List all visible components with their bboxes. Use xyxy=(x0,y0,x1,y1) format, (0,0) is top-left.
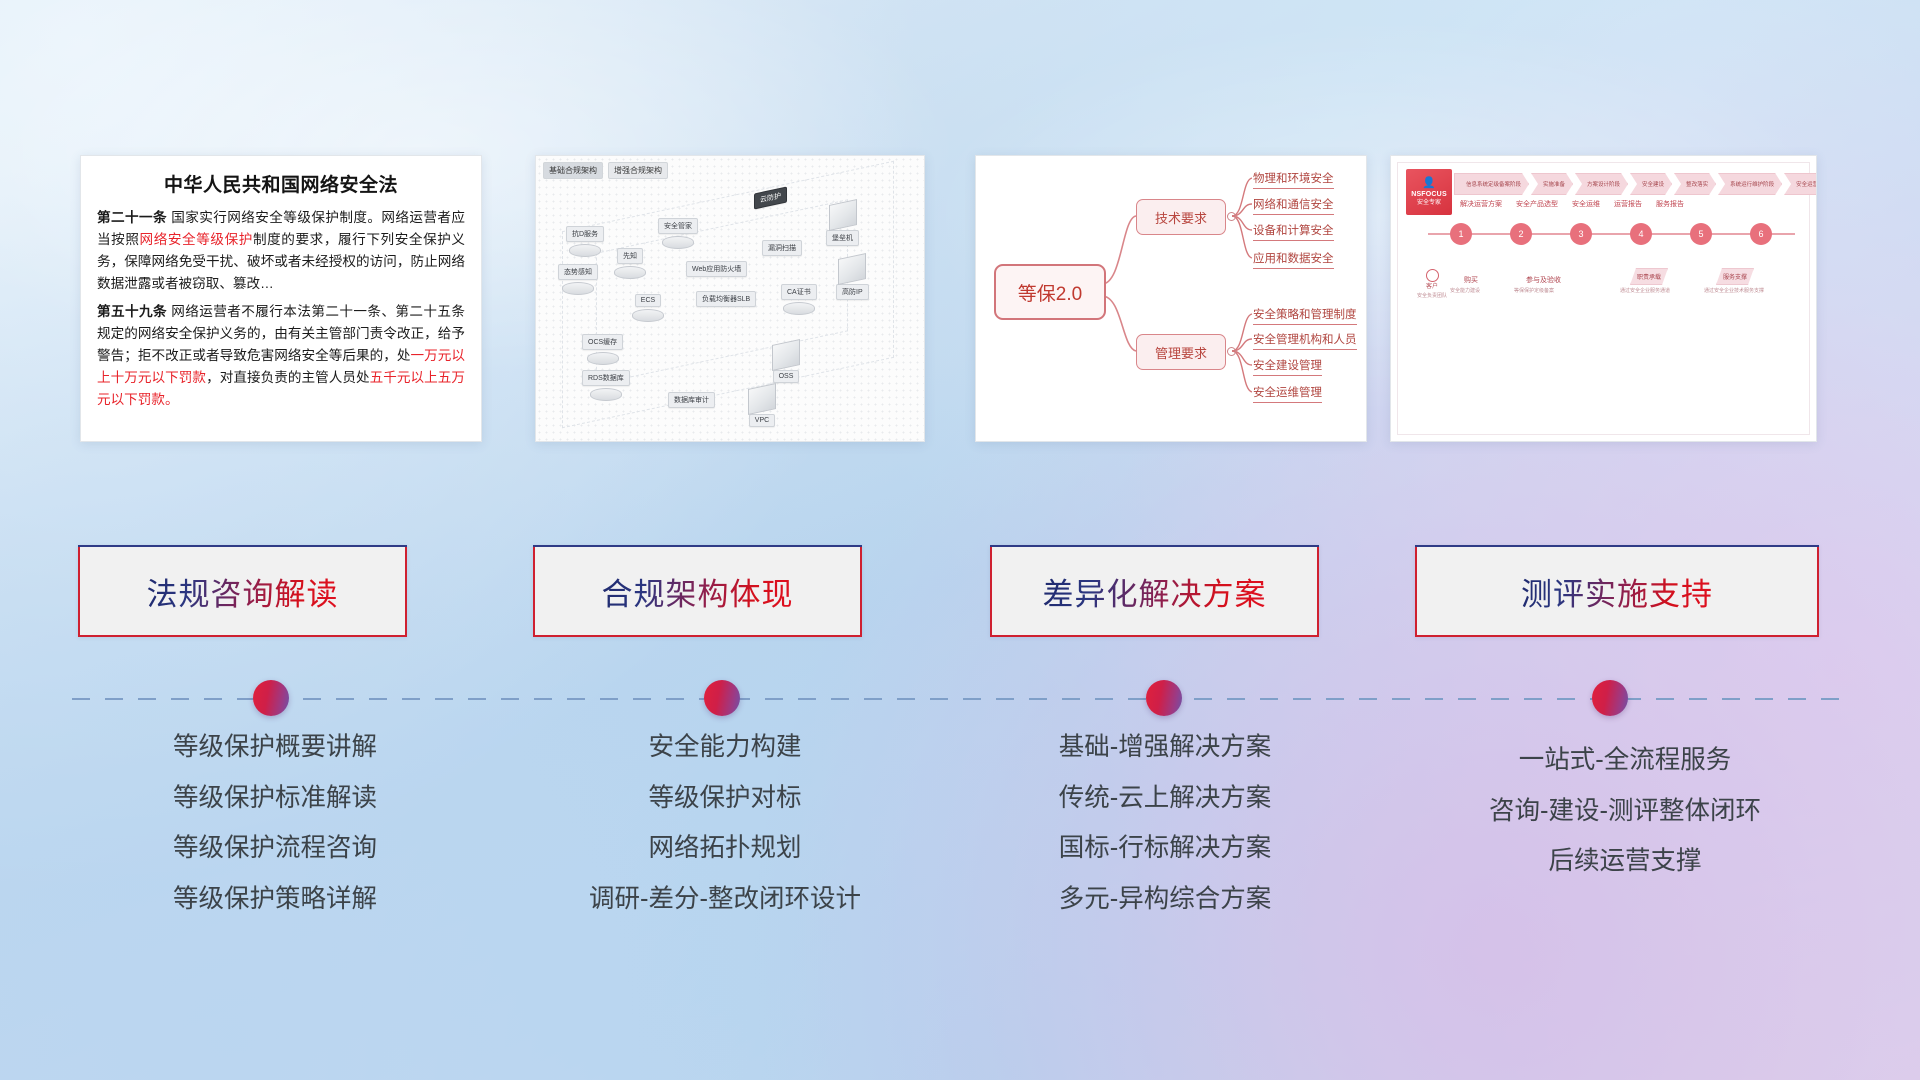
brand-name: NSFOCUS xyxy=(1411,191,1447,200)
slide-stage: 中华人民共和国网络安全法 第二十一条 国家实行网络安全等级保护制度。网络运营者应… xyxy=(0,0,1920,1080)
list-item: 等级保护标准解读 xyxy=(60,786,490,812)
role-purchase: 购买 xyxy=(1464,275,1478,285)
chevron-5: 系统运行维护阶段 xyxy=(1718,173,1782,195)
chevron-2: 方案设计阶段 xyxy=(1575,173,1628,195)
expert-icon: 👤 xyxy=(1422,177,1436,191)
brand-subtitle: 安全专家 xyxy=(1417,200,1441,208)
timeline-step-4: 4 xyxy=(1630,223,1652,245)
node-ocs-cache-label: OCS缓存 xyxy=(582,334,623,350)
card-service-timeline[interactable]: 👤 NSFOCUS 安全专家 信息系统定级备案阶段 实施准备 方案设计阶段 安全… xyxy=(1390,155,1817,442)
node-ocs-cache: OCS缓存 xyxy=(582,334,623,365)
list-item: 咨询-建设-测评整体闭环 xyxy=(1390,799,1860,825)
mindmap-leaf-policy-system: 安全策略和管理制度 xyxy=(1253,306,1357,325)
service-0: 解决运营方案 xyxy=(1460,199,1502,209)
node-oss-label: OSS xyxy=(773,370,800,383)
customer-label: 客户 xyxy=(1410,284,1454,292)
mindmap-leaf-build-mgmt: 安全建设管理 xyxy=(1253,357,1322,376)
list-item: 等级保护策略详解 xyxy=(60,887,490,913)
chevron-3: 安全建设 xyxy=(1630,173,1672,195)
node-antiddos-label: 抗D服务 xyxy=(566,226,604,242)
mindmap-bullet-management-icon xyxy=(1227,347,1236,356)
law-article-21: 第二十一条 国家实行网络安全等级保护制度。网络运营者应当按照网络安全等级保护制度… xyxy=(97,207,465,295)
node-db-audit-label: 数据库审计 xyxy=(668,392,715,408)
chevron-1: 实施准备 xyxy=(1531,173,1573,195)
infographic-frame: 👤 NSFOCUS 安全专家 信息系统定级备案阶段 实施准备 方案设计阶段 安全… xyxy=(1397,162,1810,435)
list-item: 多元-异构综合方案 xyxy=(950,887,1380,913)
person-icon xyxy=(1426,269,1439,282)
node-rds-label: RDS数据库 xyxy=(582,370,630,386)
architecture-diagram: 基础合规架构 增强合规架构 抗D服务 态势感知 先知 xyxy=(536,156,924,441)
node-slb: 负载均衡器SLB xyxy=(696,291,756,307)
card-mbps-mindmap[interactable]: 等保2.0 技术要求 物理和环境安全 网络和通信安全 设备和计算安全 应用和数据… xyxy=(975,155,1367,442)
timeline-dot-1 xyxy=(253,680,289,716)
mindmap-leaf-device-compute: 设备和计算安全 xyxy=(1253,222,1334,241)
service-3: 运营报告 xyxy=(1614,199,1642,209)
brand-badge: 👤 NSFOCUS 安全专家 xyxy=(1406,169,1452,215)
mindmap-branch-technical: 技术要求 xyxy=(1136,199,1226,235)
list-item: 等级保护概要讲解 xyxy=(60,735,490,761)
feature-column-1: 等级保护概要讲解 等级保护标准解读 等级保护流程咨询 等级保护策略详解 xyxy=(60,735,490,937)
tag-responsibility: 职责承载 xyxy=(1630,268,1668,285)
node-oss: OSS xyxy=(772,342,800,383)
list-item: 国标-行标解决方案 xyxy=(950,836,1380,862)
node-waf: Web应用防火墙 xyxy=(686,261,747,277)
node-vpc-cube xyxy=(748,383,776,415)
header-box-assessment-support[interactable]: 测评实施支持 xyxy=(1415,545,1819,637)
node-vuln-scan: 漏洞扫描 xyxy=(762,240,802,256)
chevron-6: 安全运营阶段持续改进 xyxy=(1784,173,1817,195)
node-bastion-host: 堡垒机 xyxy=(826,202,859,246)
timeline-step-3: 3 xyxy=(1570,223,1592,245)
mindmap-leaf-app-data: 应用和数据安全 xyxy=(1253,250,1334,269)
node-situational-awareness-label: 态势感知 xyxy=(558,264,598,280)
law-title: 中华人民共和国网络安全法 xyxy=(97,170,465,197)
node-slb-label: 负载均衡器SLB xyxy=(696,291,756,307)
mindmap-leaf-ops-mgmt: 安全运维管理 xyxy=(1253,384,1322,403)
list-item: 调研-差分-整改闭环设计 xyxy=(510,887,940,913)
article-21-label: 第二十一条 xyxy=(97,210,167,225)
law-article-59: 第五十九条 网络运营者不履行本法第二十一条、第二十五条规定的网络安全保护义务的，… xyxy=(97,301,465,411)
chevron-0: 信息系统定级备案阶段 xyxy=(1454,173,1529,195)
node-vpc-label: VPC xyxy=(749,414,775,427)
law-document: 中华人民共和国网络安全法 第二十一条 国家实行网络安全等级保护制度。网络运营者应… xyxy=(81,156,481,441)
header-label-3: 差异化解决方案 xyxy=(1043,569,1267,614)
timeline-step-6: 6 xyxy=(1750,223,1772,245)
customer-avatar: 客户 安全负责团队 xyxy=(1410,269,1454,298)
service-4: 服务报告 xyxy=(1656,199,1684,209)
feature-column-2: 安全能力构建 等级保护对标 网络拓扑规划 调研-差分-整改闭环设计 xyxy=(510,735,940,937)
mindmap-root: 等保2.0 xyxy=(994,264,1106,320)
role-acceptance: 参与及验收 xyxy=(1526,275,1561,285)
node-ecs: ECS xyxy=(632,294,664,322)
node-highdefense-ip: 高防IP xyxy=(836,256,869,300)
card-compliance-architecture[interactable]: 基础合规架构 增强合规架构 抗D服务 态势感知 先知 xyxy=(535,155,925,442)
card-cybersecurity-law[interactable]: 中华人民共和国网络安全法 第二十一条 国家实行网络安全等级保护制度。网络运营者应… xyxy=(80,155,482,442)
chevron-4: 整改落实 xyxy=(1674,173,1716,195)
customer-sublabel: 安全负责团队 xyxy=(1410,293,1454,300)
role-acceptance-sub: 等保保护定级备案 xyxy=(1514,287,1554,294)
header-box-regulation-consulting[interactable]: 法规咨询解读 xyxy=(78,545,407,637)
node-xianzhi-disc xyxy=(614,266,646,279)
dashed-timeline xyxy=(72,698,1842,700)
article-59-text-2: ，对直接负责的主管人员处 xyxy=(206,370,370,385)
list-item: 传统-云上解决方案 xyxy=(950,786,1380,812)
mindmap-leaf-physical-env: 物理和环境安全 xyxy=(1253,170,1334,189)
list-item: 一站式-全流程服务 xyxy=(1390,748,1860,774)
list-item: 基础-增强解决方案 xyxy=(950,735,1380,761)
node-rds: RDS数据库 xyxy=(582,370,630,401)
service-labels: 解决运营方案 安全产品选型 安全运维 运营报告 服务报告 xyxy=(1460,199,1684,209)
node-highdefense-ip-label: 高防IP xyxy=(836,284,869,300)
node-waf-label: Web应用防火墙 xyxy=(686,261,747,277)
reference-image-cards: 中华人民共和国网络安全法 第二十一条 国家实行网络安全等级保护制度。网络运营者应… xyxy=(0,0,1920,470)
feature-column-4: 一站式-全流程服务 咨询-建设-测评整体闭环 后续运营支撑 xyxy=(1390,735,1860,900)
node-antiddos-disc xyxy=(569,244,601,257)
node-ca-cert-disc xyxy=(783,302,815,315)
node-ca-cert-label: CA证书 xyxy=(781,284,817,300)
feature-column-3: 基础-增强解决方案 传统-云上解决方案 国标-行标解决方案 多元-异构综合方案 xyxy=(950,735,1380,937)
node-bastion-host-label: 堡垒机 xyxy=(826,230,859,246)
node-ecs-disc xyxy=(632,309,664,322)
node-ocs-cache-disc xyxy=(587,352,619,365)
service-infographic: 👤 NSFOCUS 安全专家 信息系统定级备案阶段 实施准备 方案设计阶段 安全… xyxy=(1391,156,1816,441)
header-box-compliance-architecture[interactable]: 合规架构体现 xyxy=(533,545,862,637)
timeline-step-1: 1 xyxy=(1450,223,1472,245)
tag-responsibility-sub: 通过安全企业服务通道 xyxy=(1620,287,1670,294)
service-1: 安全产品选型 xyxy=(1516,199,1558,209)
list-item: 安全能力构建 xyxy=(510,735,940,761)
node-situational-awareness-disc xyxy=(562,282,594,295)
mindmap-bullet-technical-icon xyxy=(1227,212,1236,221)
timeline-step-2: 2 xyxy=(1510,223,1532,245)
header-label-1: 法规咨询解读 xyxy=(147,569,339,614)
tab-basic-compliance[interactable]: 基础合规架构 xyxy=(543,162,603,179)
article-59-label: 第五十九条 xyxy=(97,304,167,319)
node-vpc: VPC xyxy=(748,386,776,427)
list-item: 网络拓扑规划 xyxy=(510,836,940,862)
mindmap-branch-management: 管理要求 xyxy=(1136,334,1226,370)
node-vuln-scan-label: 漏洞扫描 xyxy=(762,240,802,256)
node-oss-cube xyxy=(772,339,800,371)
node-security-butler: 安全管家 xyxy=(658,218,698,249)
tab-enhanced-compliance[interactable]: 增强合规架构 xyxy=(608,162,668,179)
phase-chevrons: 信息系统定级备案阶段 实施准备 方案设计阶段 安全建设 整改落实 系统运行维护阶… xyxy=(1454,173,1817,195)
header-label-2: 合规架构体现 xyxy=(602,569,794,614)
mindmap-leaf-org-personnel: 安全管理机构和人员 xyxy=(1253,331,1357,350)
role-purchase-sub: 安全能力建设 xyxy=(1450,287,1480,294)
timeline-dot-3 xyxy=(1146,680,1182,716)
node-antiddos: 抗D服务 xyxy=(566,226,604,257)
timeline-dot-4 xyxy=(1592,680,1628,716)
tag-service-support: 服务支撑 xyxy=(1716,268,1754,285)
node-situational-awareness: 态势感知 xyxy=(558,264,598,295)
timeline-dot-2 xyxy=(704,680,740,716)
node-db-audit: 数据库审计 xyxy=(668,392,715,408)
node-highdefense-ip-cube xyxy=(838,253,866,285)
header-label-4: 测评实施支持 xyxy=(1521,569,1713,614)
node-rds-disc xyxy=(590,388,622,401)
timeline-step-5: 5 xyxy=(1690,223,1712,245)
node-security-butler-label: 安全管家 xyxy=(658,218,698,234)
list-item: 后续运营支撑 xyxy=(1390,849,1860,875)
header-box-differentiated-solution[interactable]: 差异化解决方案 xyxy=(990,545,1319,637)
node-ca-cert: CA证书 xyxy=(781,284,817,315)
node-ecs-label: ECS xyxy=(635,294,661,307)
tag-service-support-sub: 通过安全企业技术服务支撑 xyxy=(1704,287,1764,294)
list-item: 等级保护对标 xyxy=(510,786,940,812)
infographic-timeline-axis xyxy=(1428,233,1795,235)
node-security-butler-disc xyxy=(662,236,694,249)
mindmap: 等保2.0 技术要求 物理和环境安全 网络和通信安全 设备和计算安全 应用和数据… xyxy=(976,156,1366,441)
article-21-highlight: 网络安全等级保护 xyxy=(140,232,253,247)
node-xianzhi-label: 先知 xyxy=(617,248,643,264)
mindmap-leaf-network-comm: 网络和通信安全 xyxy=(1253,196,1334,215)
node-bastion-host-cube xyxy=(829,199,857,231)
service-2: 安全运维 xyxy=(1572,199,1600,209)
node-xianzhi: 先知 xyxy=(614,248,646,279)
list-item: 等级保护流程咨询 xyxy=(60,836,490,862)
architecture-tabs[interactable]: 基础合规架构 增强合规架构 xyxy=(543,162,668,179)
